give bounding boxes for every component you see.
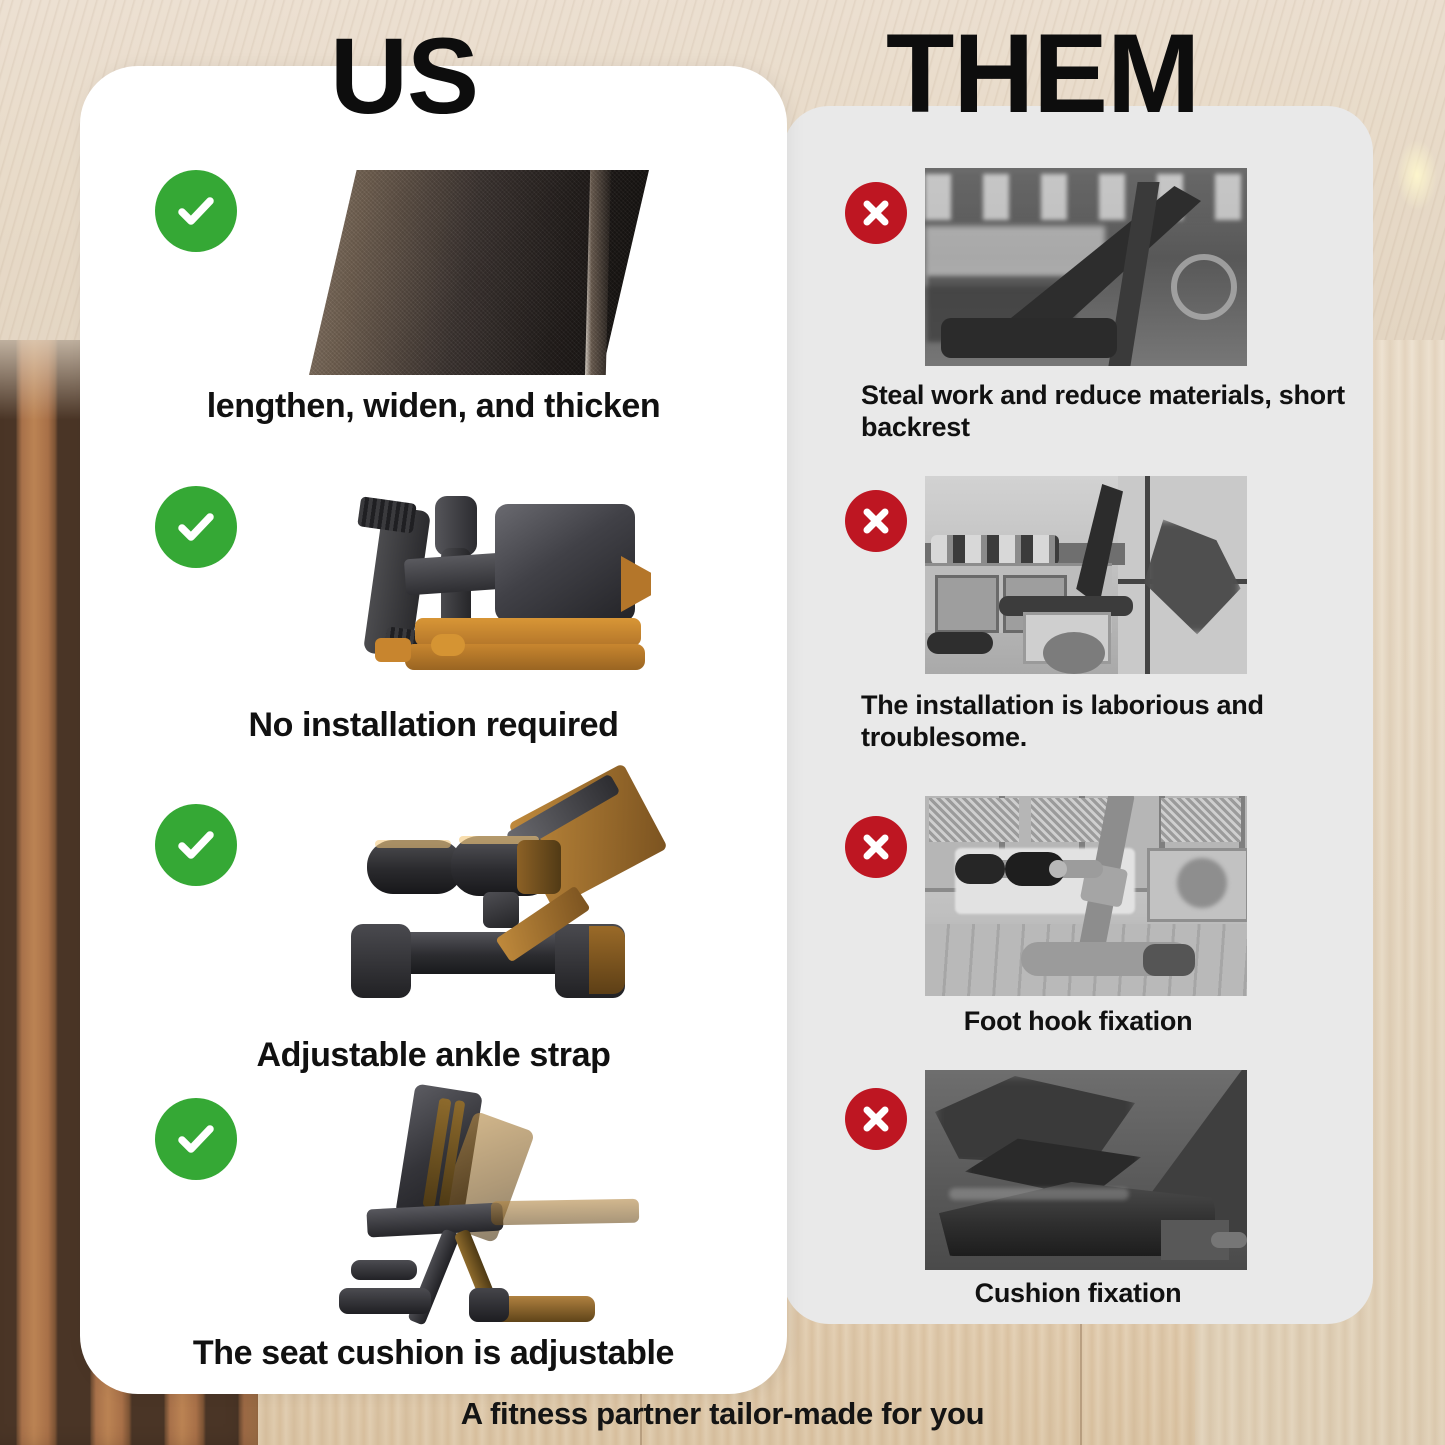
ankle-roller-pads-photo [255, 796, 735, 1018]
check-icon [155, 804, 237, 886]
check-icon [155, 486, 237, 568]
footer-tagline: A fitness partner tailor-made for you [0, 1396, 1445, 1432]
them-header: THEM [886, 18, 1199, 130]
them-caption-4: Cushion fixation [783, 1278, 1373, 1310]
folded-bench-no-install-photo [255, 478, 735, 693]
check-icon [155, 1098, 237, 1180]
background-light-glow [1397, 140, 1437, 210]
them-caption-2: The installation is laborious and troubl… [861, 690, 1361, 754]
foot-hook-roller-photo [925, 796, 1247, 996]
cross-icon [845, 816, 907, 878]
check-icon [155, 170, 237, 252]
cross-icon [845, 182, 907, 244]
gym-bench-window-dumbbells-photo [925, 476, 1247, 674]
them-caption-3: Foot hook fixation [783, 1006, 1373, 1038]
gym-bench-short-backrest-photo [925, 168, 1247, 366]
cross-icon [845, 1088, 907, 1150]
leather-backrest-closeup-photo [255, 162, 735, 377]
bench-cushion-closeup-photo [925, 1070, 1247, 1270]
us-caption-3: Adjustable ankle strap [80, 1036, 787, 1075]
us-column: lengthen, widen, and thicken No insta [80, 66, 787, 1394]
them-caption-1: Steal work and reduce materials, short b… [861, 380, 1361, 444]
them-column: Steal work and reduce materials, short b… [783, 106, 1373, 1324]
us-caption-1: lengthen, widen, and thicken [80, 387, 787, 426]
adjustable-bench-full-photo [255, 1082, 735, 1320]
us-caption-4: The seat cushion is adjustable [80, 1334, 787, 1373]
us-caption-2: No installation required [80, 706, 787, 745]
us-header: US [330, 22, 478, 130]
cross-icon [845, 490, 907, 552]
